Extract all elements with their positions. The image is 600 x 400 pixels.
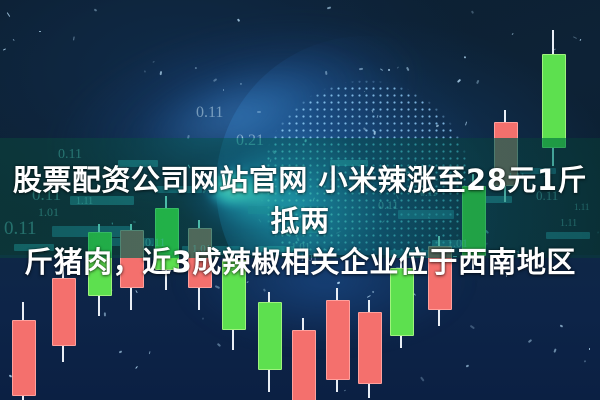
banner-image: 0.110.110.111.011.110.110.211.110.111.01… — [0, 0, 600, 400]
candlestick — [12, 302, 34, 400]
candlestick — [292, 318, 314, 400]
data-number: 0.11 — [196, 104, 223, 122]
candlestick-body — [292, 330, 316, 400]
candlestick-body — [12, 320, 36, 396]
headline: 股票配资公司网站官网 小米辣涨至28元1斤抵两 斤猪肉，近3成辣椒相关企业位于西… — [0, 160, 600, 283]
headline-line-2: 斤猪肉，近3成辣椒相关企业位于西南地区 — [0, 242, 600, 283]
headline-line-1: 股票配资公司网站官网 小米辣涨至28元1斤抵两 — [0, 160, 600, 242]
candlestick — [326, 288, 348, 392]
candlestick — [358, 300, 380, 398]
candlestick-body — [326, 300, 350, 380]
candlestick-body — [542, 54, 566, 148]
candlestick-body — [52, 278, 76, 346]
candlestick-body — [358, 312, 382, 384]
candlestick-body — [258, 302, 282, 370]
candlestick — [258, 292, 280, 392]
